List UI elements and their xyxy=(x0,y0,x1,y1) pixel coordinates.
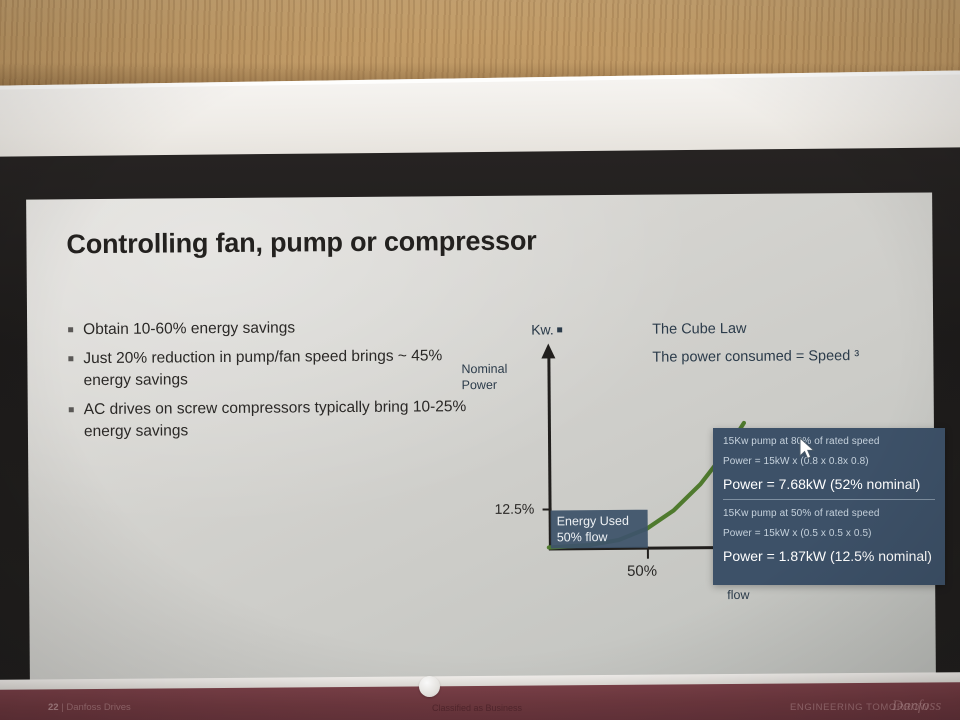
bullet-list: Obtain 10-60% energy savings Just 20% re… xyxy=(67,316,488,450)
list-item-label: Just 20% reduction in pump/fan speed bri… xyxy=(83,348,442,389)
page-title: Controlling fan, pump or compressor xyxy=(66,226,536,261)
bullet-square-icon xyxy=(68,357,73,362)
footer-org: Danfoss Drives xyxy=(66,702,130,713)
trackpad-button[interactable] xyxy=(419,676,440,697)
callout-case2-result: Power = 1.87kW (12.5% nominal) xyxy=(723,548,935,564)
list-item-label: Obtain 10-60% energy savings xyxy=(83,319,295,338)
footer-classification: Classified as Business xyxy=(432,703,522,713)
cube-law-callout-panel: 15Kw pump at 80% of rated speed Power = … xyxy=(713,428,945,585)
callout-case1-result: Power = 7.68kW (52% nominal) xyxy=(723,476,935,492)
mouse-cursor-icon xyxy=(798,437,818,465)
callout-case2-title: 15Kw pump at 50% of rated speed xyxy=(723,508,935,519)
danfoss-logo: Danfoss xyxy=(892,698,941,715)
footer-left: 22 | Danfoss Drives xyxy=(48,702,131,713)
footer-divider: | xyxy=(61,702,63,713)
bullet-square-icon xyxy=(69,407,74,412)
callout-case1-title: 15Kw pump at 80% of rated speed xyxy=(723,436,935,447)
callout-case1-calc: Power = 15kW x (0.8 x 0.8x 0.8) xyxy=(723,456,935,467)
list-item: Just 20% reduction in pump/fan speed bri… xyxy=(67,345,487,391)
list-item-label: AC drives on screw compressors typically… xyxy=(84,398,467,439)
square-dot-icon xyxy=(557,327,562,332)
energy-used-label: Energy Used 50% flow xyxy=(557,513,652,546)
photographed-slide: Controlling fan, pump or compressor Obta… xyxy=(0,0,960,720)
bullet-square-icon xyxy=(68,327,73,332)
footer-page-number: 22 xyxy=(48,702,59,713)
list-item: Obtain 10-60% energy savings xyxy=(67,316,487,341)
callout-divider xyxy=(723,499,935,500)
list-item: AC drives on screw compressors typically… xyxy=(68,396,488,442)
callout-case2-calc: Power = 15kW x (0.5 x 0.5 x 0.5) xyxy=(723,528,935,539)
